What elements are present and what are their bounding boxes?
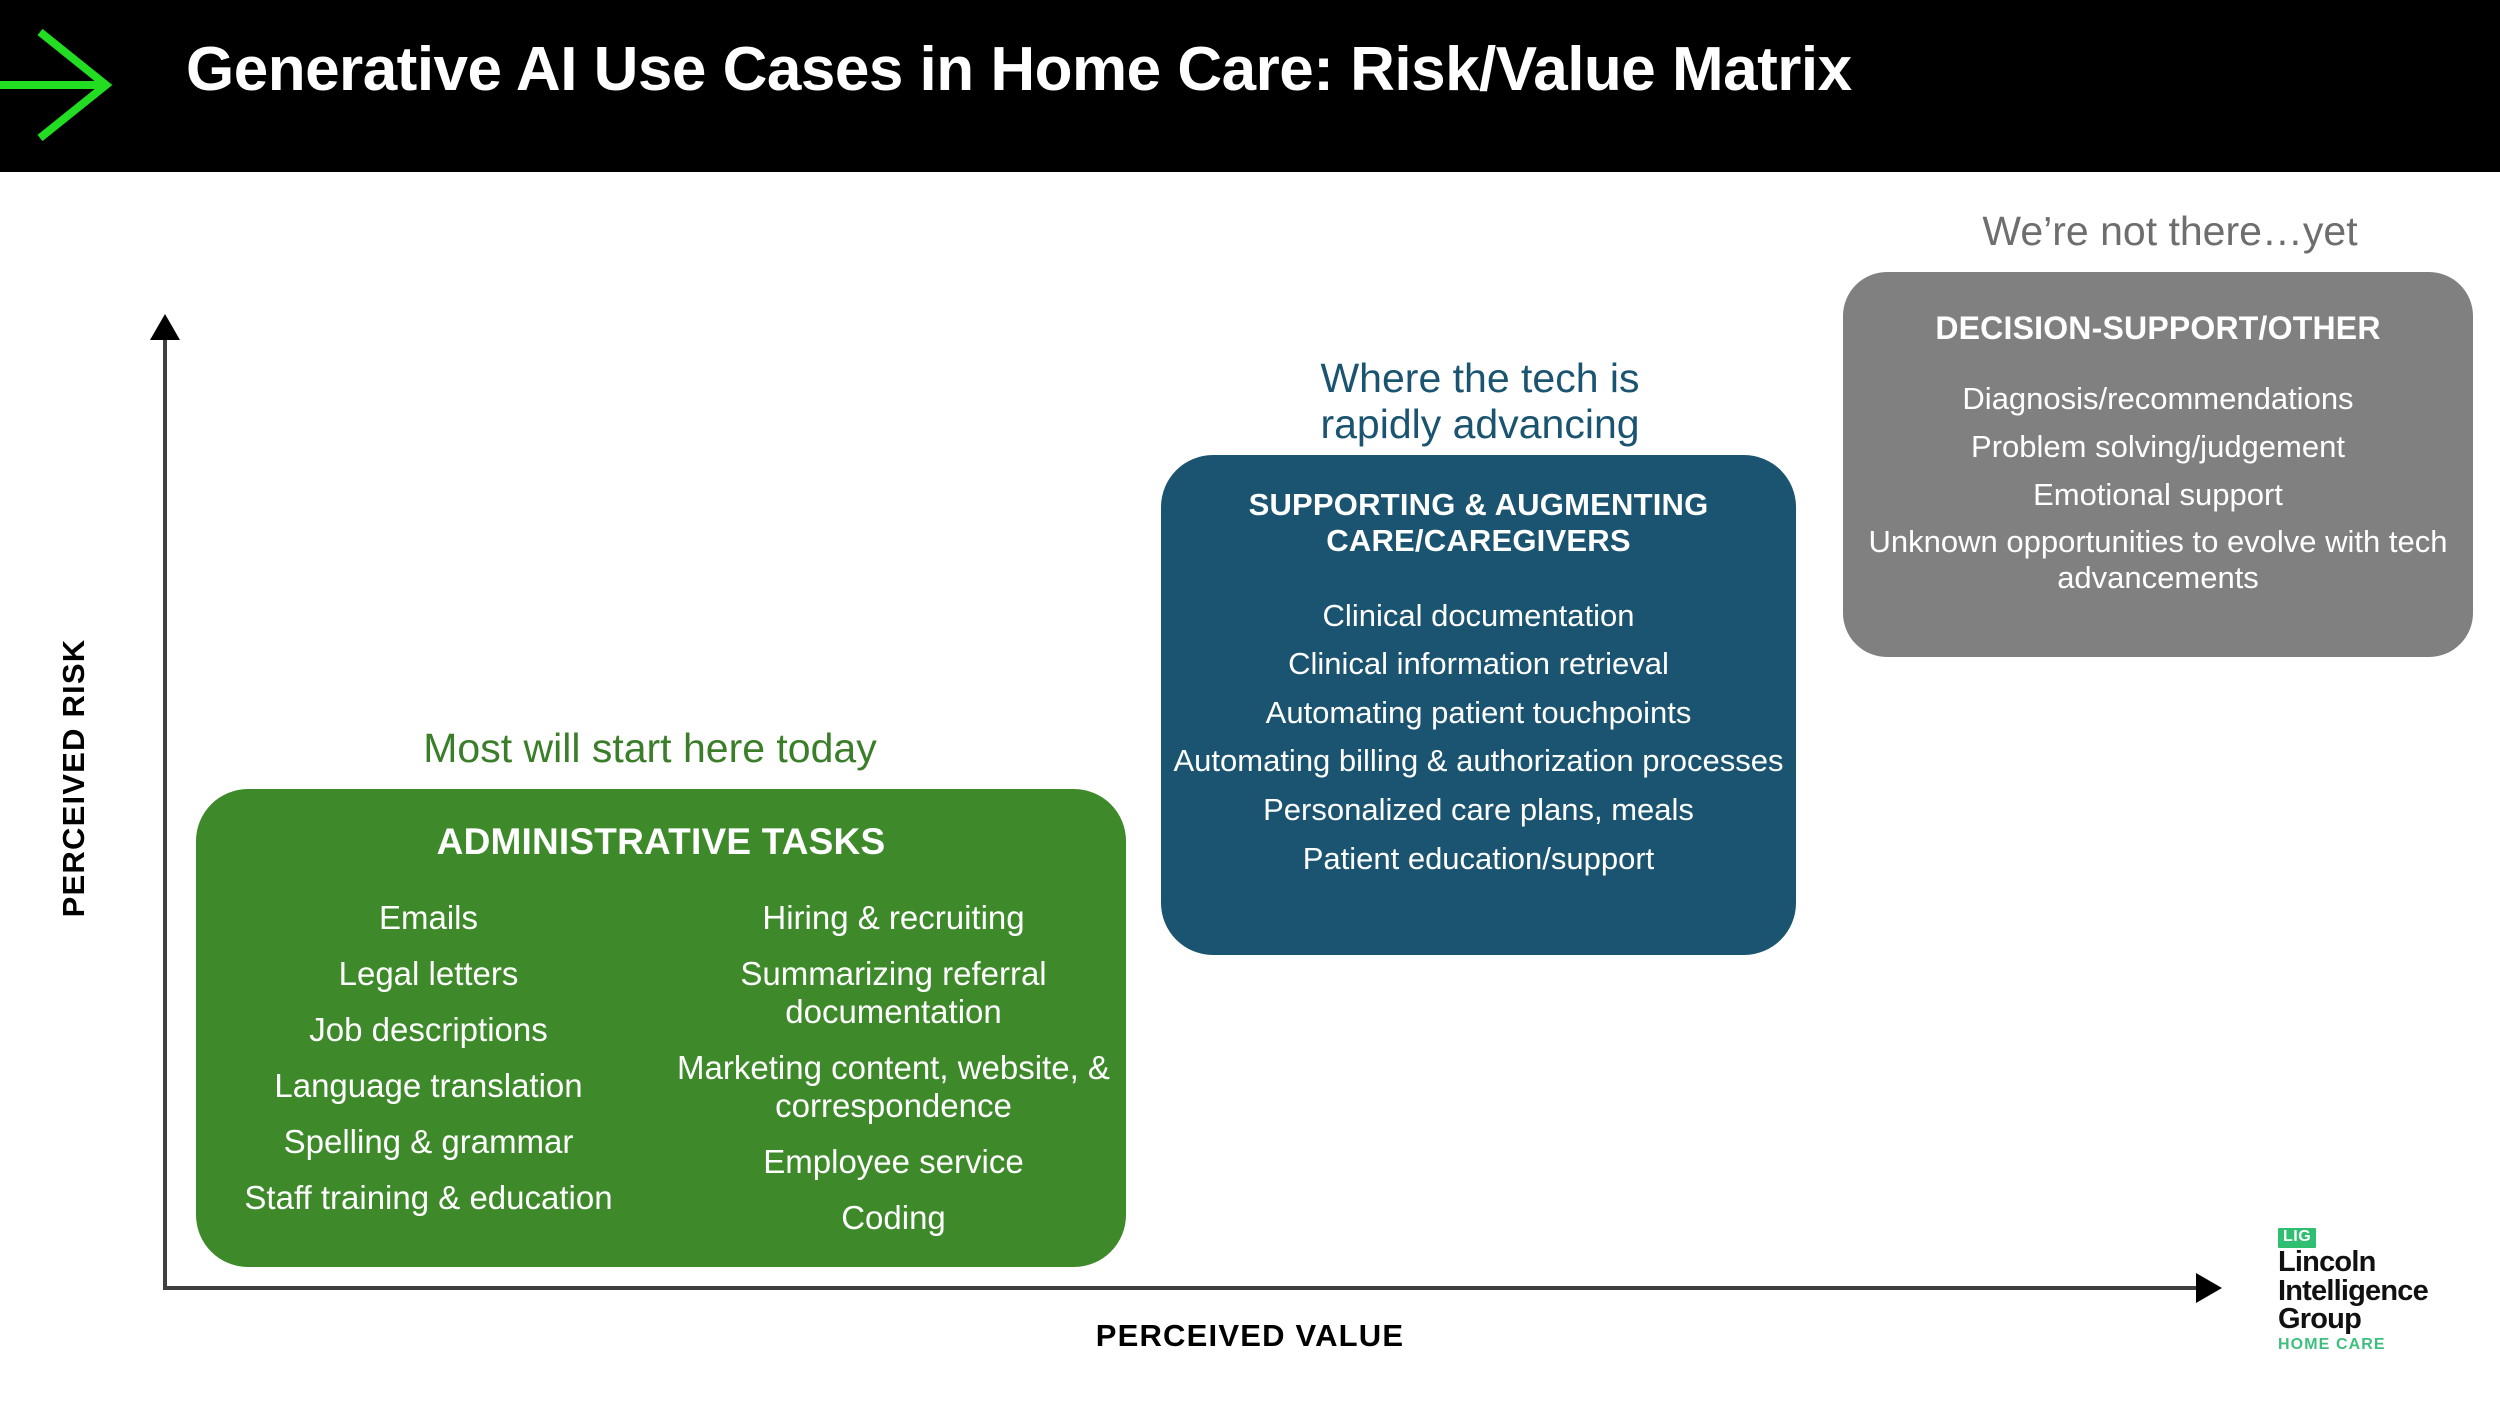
caption-supporting-line1: Where the tech is [1180,355,1780,401]
list-item: Legal letters [196,955,661,993]
administrative-column-left: Emails Legal letters Job descriptions La… [196,899,661,1255]
card-supporting-augmenting-care[interactable]: SUPPORTING & AUGMENTING CARE/CAREGIVERS … [1161,455,1796,955]
x-axis-arrowhead-icon [2196,1273,2222,1303]
lincoln-intelligence-group-logo: LIG Lincoln Intelligence Group HOME CARE [2278,1228,2438,1354]
logo-tagline: HOME CARE [2278,1336,2438,1354]
list-item: Unknown opportunities to evolve with tec… [1843,524,2473,595]
card-decision-support-other[interactable]: DECISION-SUPPORT/OTHER Diagnosis/recomme… [1843,272,2473,657]
administrative-list-right: Hiring & recruiting Summarizing referral… [661,899,1126,1237]
slide-canvas: Generative AI Use Cases in Home Care: Ri… [0,0,2500,1406]
administrative-list-left: Emails Legal letters Job descriptions La… [196,899,661,1217]
logo-badge: LIG [2278,1228,2316,1248]
administrative-column-right: Hiring & recruiting Summarizing referral… [661,899,1126,1255]
list-item: Spelling & grammar [196,1123,661,1161]
x-axis-label: PERCEIVED VALUE [900,1318,1600,1354]
y-axis-arrowhead-icon [150,314,180,340]
caption-administrative: Most will start here today [200,725,1100,771]
list-item: Language translation [196,1067,661,1105]
list-item: Summarizing referral documentation [661,955,1126,1031]
green-arrow-right-icon [0,10,150,160]
list-item: Clinical documentation [1161,598,1796,634]
logo-line-1: Lincoln [2278,1248,2438,1277]
supporting-list: Clinical documentation Clinical informat… [1161,598,1796,877]
x-axis-line [163,1286,2207,1290]
card-title-administrative: ADMINISTRATIVE TASKS [196,820,1126,863]
caption-supporting: Where the tech is rapidly advancing [1180,355,1780,448]
list-item: Diagnosis/recommendations [1843,381,2473,417]
caption-supporting-line2: rapidly advancing [1180,401,1780,447]
list-item: Emails [196,899,661,937]
list-item: Patient education/support [1161,841,1796,877]
card-title-supporting: SUPPORTING & AUGMENTING CARE/CAREGIVERS [1161,487,1796,560]
list-item: Job descriptions [196,1011,661,1049]
list-item: Marketing content, website, & correspond… [661,1049,1126,1125]
page-title: Generative AI Use Cases in Home Care: Ri… [186,36,2086,104]
card-title-decision-support: DECISION-SUPPORT/OTHER [1843,310,2473,347]
list-item: Employee service [661,1143,1126,1181]
list-item: Automating patient touchpoints [1161,695,1796,731]
list-item: Coding [661,1199,1126,1237]
card-administrative-tasks[interactable]: ADMINISTRATIVE TASKS Emails Legal letter… [196,789,1126,1267]
list-item: Hiring & recruiting [661,899,1126,937]
logo-line-3: Group [2278,1305,2438,1334]
y-axis-line [163,332,167,1290]
logo-line-2: Intelligence [2278,1277,2438,1306]
decision-support-list: Diagnosis/recommendations Problem solvin… [1843,381,2473,595]
list-item: Clinical information retrieval [1161,646,1796,682]
list-item: Automating billing & authorization proce… [1161,743,1796,779]
administrative-columns: Emails Legal letters Job descriptions La… [196,899,1126,1255]
y-axis-label: PERCEIVED RISK [56,618,92,938]
list-item: Staff training & education [196,1179,661,1217]
list-item: Emotional support [1843,477,2473,513]
header-bar: Generative AI Use Cases in Home Care: Ri… [0,0,2500,172]
list-item: Personalized care plans, meals [1161,792,1796,828]
caption-decision-support: We’re not there…yet [1860,208,2480,254]
list-item: Problem solving/judgement [1843,429,2473,465]
